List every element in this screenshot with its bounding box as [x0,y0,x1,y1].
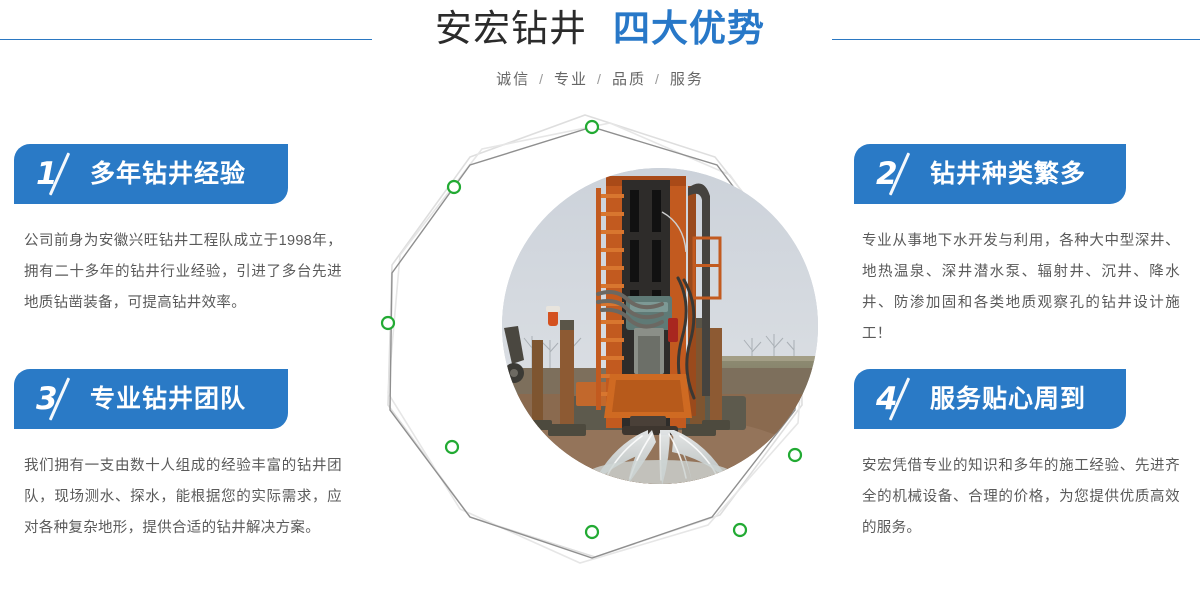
subtitle-item-1: 专业 [554,71,588,88]
feature-block-1: 1 多年钻井经验 公司前身为安徽兴旺钻井工程队成立于1998年，拥有二十多年的钻… [14,144,344,319]
feature-block-4: 4 服务贴心周到 安宏凭借专业的知识和多年的施工经验、先进齐全的机械设备、合理的… [854,369,1184,544]
subtitle-item-3: 服务 [670,71,704,88]
vertex-node-lower-right [734,524,746,536]
title-main: 安宏钻井 [435,8,587,49]
vertex-node-upper-left [448,181,460,193]
feature-title-1: 多年钻井经验 [90,144,246,204]
feature-body-3: 我们拥有一支由数十人组成的经验丰富的钻井团队，现场测水、探水，能根据您的实际需求… [24,451,342,544]
drilling-rig-illustration [502,168,818,484]
subtitle-separator: / [539,71,545,87]
feature-title-3: 专业钻井团队 [90,369,246,429]
drilling-site-photo [502,168,818,484]
subtitle-item-2: 品质 [612,71,646,88]
vertex-node-top [586,121,598,133]
feature-badge-1[interactable]: 1 多年钻井经验 [14,144,288,204]
subtitle-item-0: 诚信 [496,71,530,88]
promo-page: 安宏钻井四大优势 诚信/专业/品质/服务 1 多年钻井经验 公司前身为安徽兴旺钻… [0,0,1200,600]
feature-body-4: 安宏凭借专业的知识和多年的施工经验、先进齐全的机械设备、合理的价格，为您提供优质… [862,451,1180,544]
vertex-node-bottom [586,526,598,538]
feature-block-3: 3 专业钻井团队 我们拥有一支由数十人组成的经验丰富的钻井团队，现场测水、探水，… [14,369,344,544]
page-title: 安宏钻井四大优势 [0,10,1200,47]
subtitle-separator: / [655,71,661,87]
feature-badge-3[interactable]: 3 专业钻井团队 [14,369,288,429]
feature-body-2: 专业从事地下水开发与利用，各种大中型深井、地热温泉、深井潜水泵、辐射井、沉井、降… [862,226,1180,350]
feature-badge-2[interactable]: 2 钻井种类繁多 [854,144,1126,204]
subtitle-list: 诚信/专业/品质/服务 [0,68,1200,89]
vertex-node-lower-left [446,441,458,453]
vertex-node-left [382,317,394,329]
title-accent: 四大优势 [613,8,765,49]
center-graphic [370,105,830,600]
feature-body-1: 公司前身为安徽兴旺钻井工程队成立于1998年，拥有二十多年的钻井行业经验，引进了… [24,226,342,319]
subtitle-separator: / [597,71,603,87]
page-header: 安宏钻井四大优势 诚信/专业/品质/服务 [0,0,1200,112]
feature-badge-4[interactable]: 4 服务贴心周到 [854,369,1126,429]
feature-title-4: 服务贴心周到 [930,369,1086,429]
feature-title-2: 钻井种类繁多 [930,144,1086,204]
feature-block-2: 2 钻井种类繁多 专业从事地下水开发与利用，各种大中型深井、地热温泉、深井潜水泵… [854,144,1184,350]
